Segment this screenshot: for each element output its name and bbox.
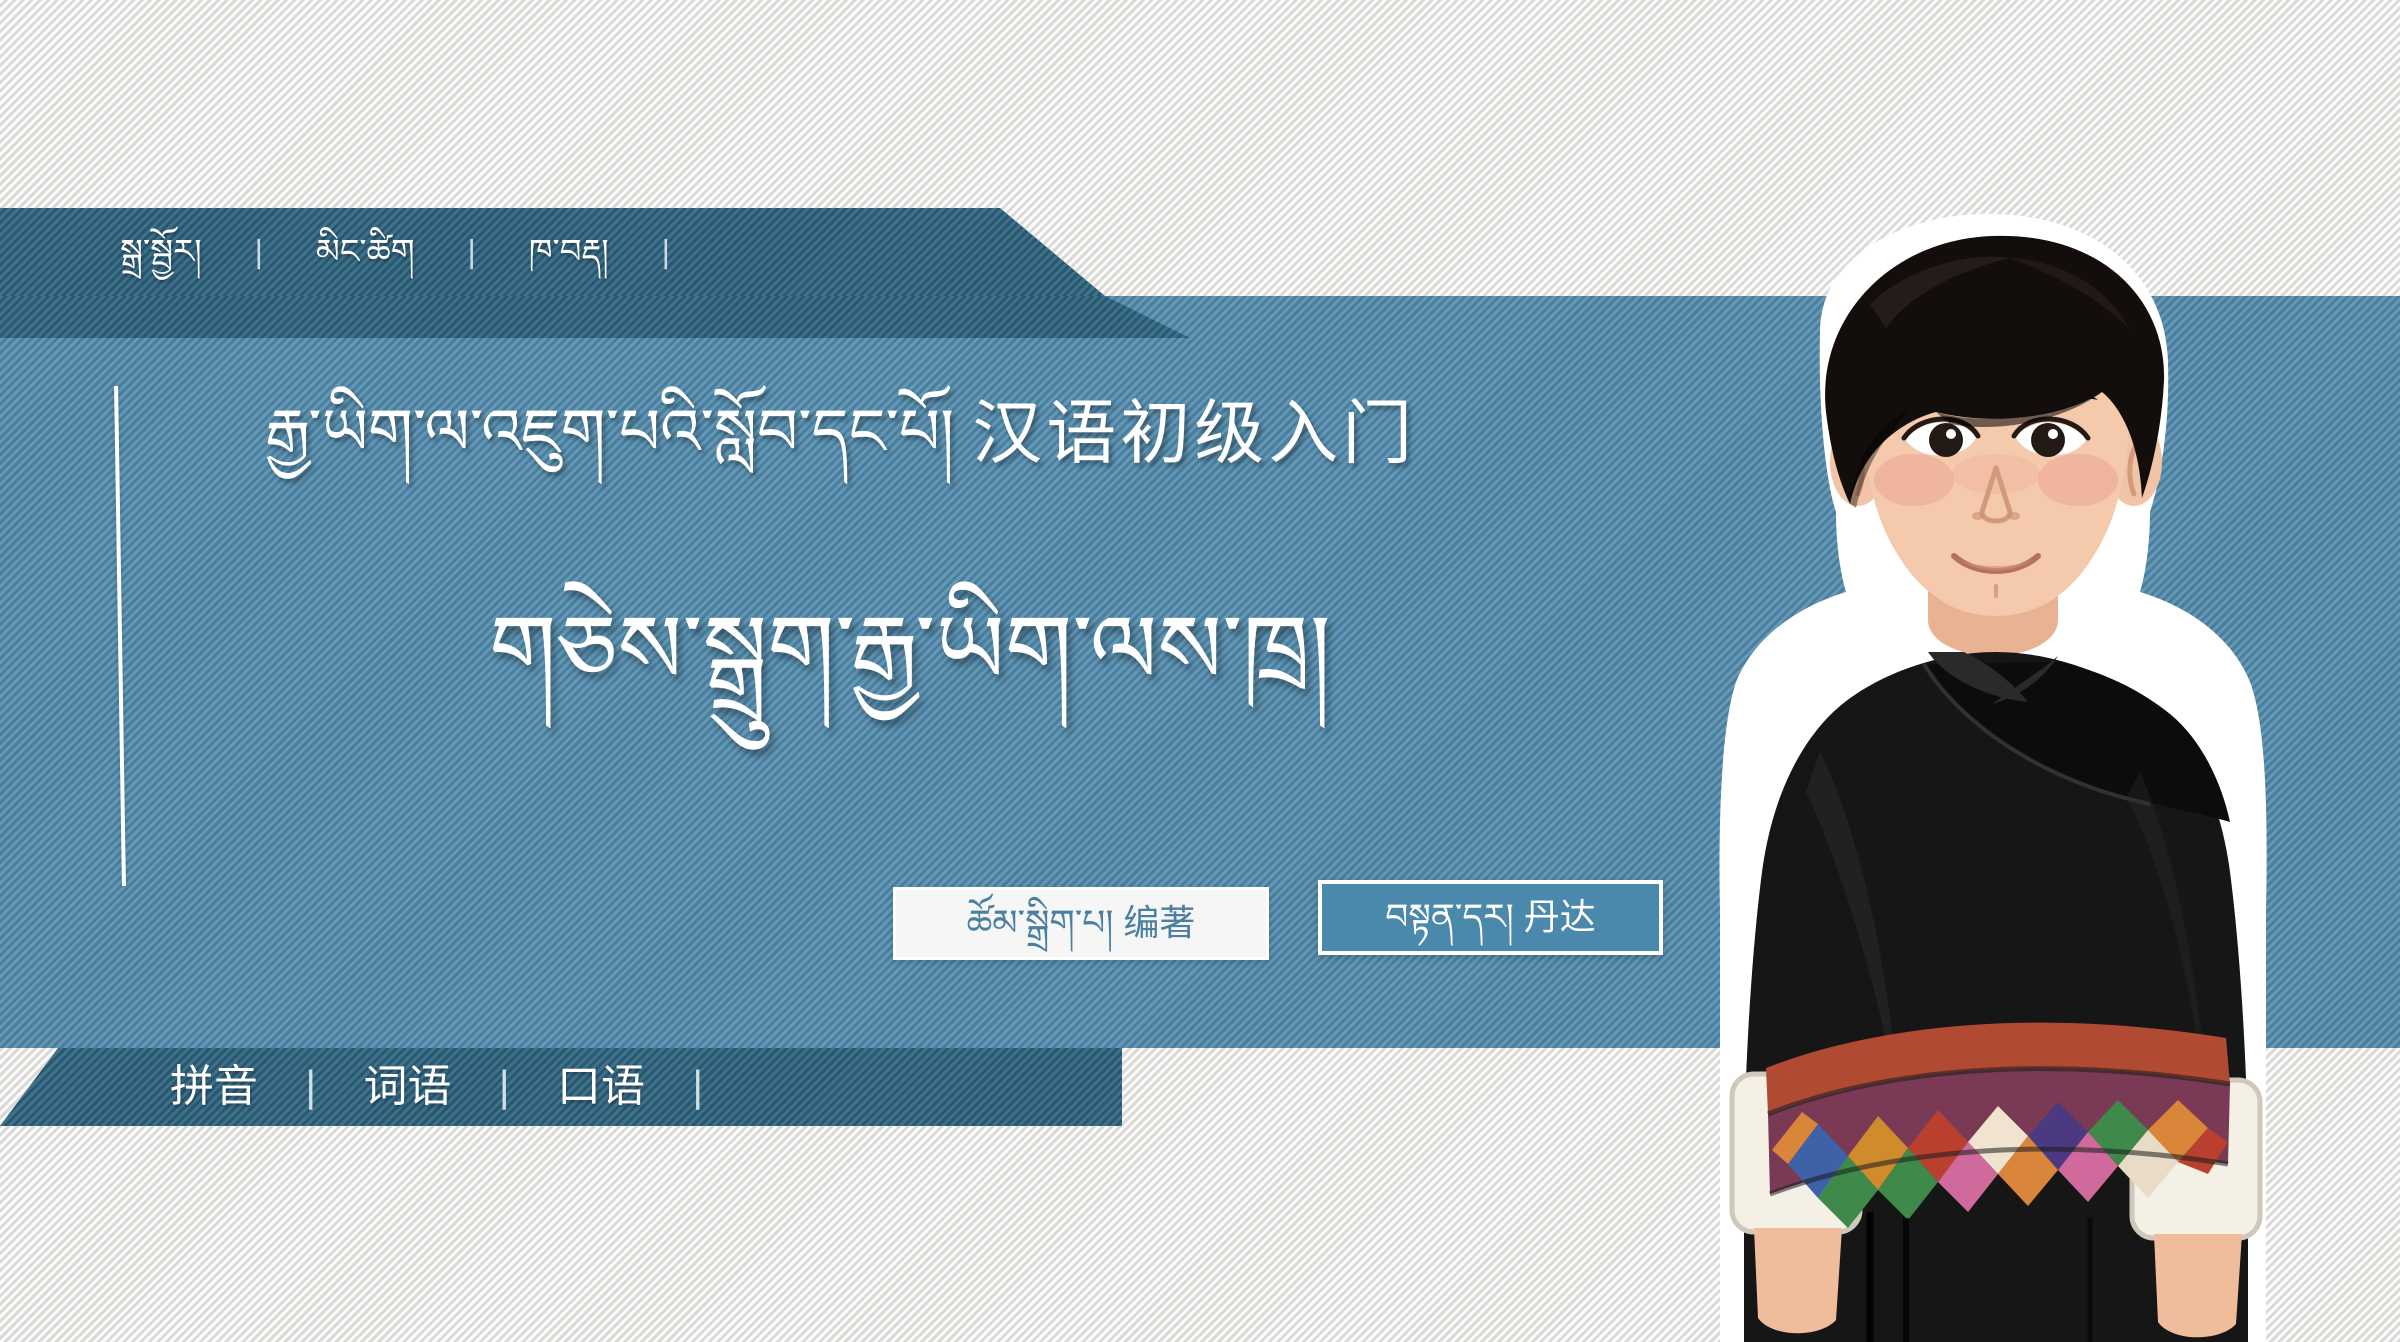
editor-credit-tibetan: ཚོམ་སྒྲིག་པ། [967,903,1114,944]
bottom-nav-separator: | [691,1064,704,1110]
nav-item-vocabulary[interactable]: མིང་ཚིག [316,235,415,269]
slide-canvas: སྒྲ་སྦྱོར། | མིང་ཚིག | ཁ་བརྡ། | རྒྱ་ཡིག་… [0,0,2400,1342]
nav-separator: | [467,235,477,270]
bottom-nav-separator: | [497,1064,510,1110]
editor-credit-box: ཚོམ་སྒྲིག་པ།编著 [893,887,1269,960]
page-title-chinese: 汉语初级入门 [972,398,1416,468]
top-nav-wedge [0,296,1190,338]
cheek-right [2038,454,2118,506]
top-navigation-bar: སྒྲ་སྦྱོར། | མིང་ཚིག | ཁ་བརྡ། | [0,208,1105,296]
editor-credit-text: ཚོམ་སྒྲིག་པ།编著 [967,906,1196,942]
author-name-button[interactable]: བསྟན་དར།丹达 [1318,880,1663,955]
author-name-tibetan: བསྟན་དར། [1385,897,1513,938]
cheek-left [1874,454,1954,506]
nav-item-sound[interactable]: སྒྲ་སྦྱོར། [120,235,202,269]
author-name-chinese: 丹达 [1524,897,1596,938]
hand-left [1754,1228,1842,1333]
editor-credit-chinese: 编著 [1123,903,1195,944]
bottom-nav-separator: | [304,1064,317,1110]
nav-separator: | [254,235,264,270]
bottom-nav-item-spoken[interactable]: 口语 [557,1065,645,1109]
nav-item-conversation[interactable]: ཁ་བརྡ། [529,235,609,269]
page-title-tibetan: རྒྱ་ཡིག་ལ་འཇུག་པའི་སློབ་དང་པོ། [265,401,954,465]
hand-right [2154,1234,2242,1337]
bottom-nav-item-words[interactable]: 词语 [363,1065,451,1109]
tibetan-boy-character-illustration [1710,212,2270,1342]
bottom-nav-item-pinyin[interactable]: 拼音 [170,1065,258,1109]
author-name-text: བསྟན་དར།丹达 [1385,900,1595,936]
page-subtitle-tibetan: གཅེས་སྒྲུག་རྒྱ་ཡིག་ལས་ཁྲ། [489,594,1331,706]
page-subtitle: གཅེས་སྒྲུག་རྒྱ་ཡིག་ལས་ཁྲ། [0,590,1820,710]
nav-separator: | [661,235,671,270]
bottom-navigation-bar: 拼音 | 词语 | 口语 | [0,1048,1122,1126]
page-title: རྒྱ་ཡིག་ལ་འཇུག་པའི་སློབ་དང་པོ། 汉语初级入门 [265,378,1585,488]
